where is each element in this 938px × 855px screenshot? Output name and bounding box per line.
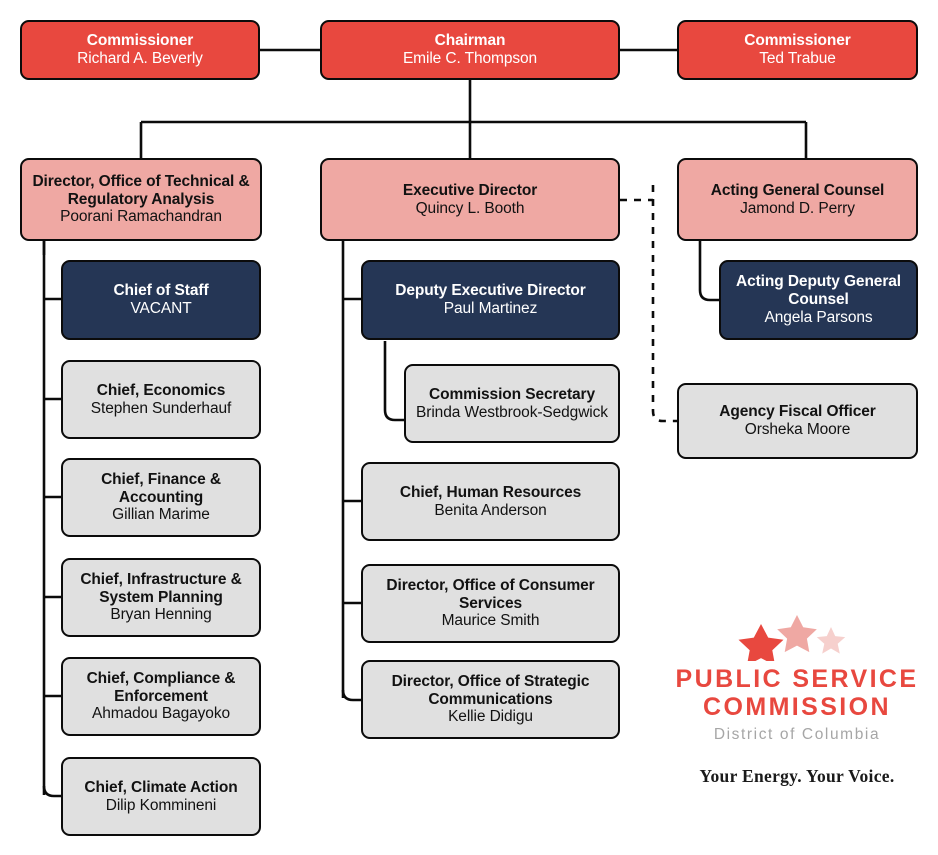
node-title: Commissioner [744, 32, 850, 50]
node-name: Richard A. Beverly [77, 50, 203, 68]
logo-stars [727, 615, 867, 659]
node-title: Agency Fiscal Officer [719, 403, 875, 421]
node-deputy-executive-director[interactable]: Deputy Executive Director Paul Martinez [361, 260, 620, 340]
node-chief-compliance-enforcement[interactable]: Chief, Compliance & Enforcement Ahmadou … [61, 657, 261, 736]
node-executive-director[interactable]: Executive Director Quincy L. Booth [320, 158, 620, 241]
node-chief-economics[interactable]: Chief, Economics Stephen Sunderhauf [61, 360, 261, 439]
node-director-office-consumer-services[interactable]: Director, Office of Consumer Services Ma… [361, 564, 620, 643]
line-dotted-exec-to-fiscal [620, 185, 677, 421]
node-name: Paul Martinez [444, 300, 537, 318]
node-director-office-strategic-communications[interactable]: Director, Office of Strategic Communicat… [361, 660, 620, 739]
node-agency-fiscal-officer[interactable]: Agency Fiscal Officer Orsheka Moore [677, 383, 918, 459]
node-name: Brinda Westbrook-Sedgwick [416, 404, 608, 422]
node-title: Chief of Staff [113, 282, 208, 300]
node-name: Jamond D. Perry [740, 200, 855, 218]
node-name: Maurice Smith [442, 612, 540, 630]
node-title: Chief, Compliance & Enforcement [69, 670, 253, 706]
node-chief-finance-accounting[interactable]: Chief, Finance & Accounting Gillian Mari… [61, 458, 261, 537]
node-commission-secretary[interactable]: Commission Secretary Brinda Westbrook-Se… [404, 364, 620, 443]
node-name: VACANT [130, 300, 191, 318]
node-title: Director, Office of Strategic Communicat… [369, 673, 612, 709]
node-chief-climate-action[interactable]: Chief, Climate Action Dilip Kommineni [61, 757, 261, 836]
node-name: Ahmadou Bagayoko [92, 705, 230, 723]
star-bold-icon [739, 624, 784, 661]
node-acting-general-counsel[interactable]: Acting General Counsel Jamond D. Perry [677, 158, 918, 241]
logo-subtitle: District of Columbia [668, 726, 926, 744]
node-title: Executive Director [403, 182, 537, 200]
line-deputy-to-commission-secretary [385, 341, 404, 420]
line-mid-stub-director-strategic [343, 690, 361, 700]
node-name: Orsheka Moore [745, 421, 851, 439]
node-name: Quincy L. Booth [416, 200, 525, 218]
node-title: Director, Office of Technical & Regulato… [28, 173, 254, 209]
node-title: Commission Secretary [429, 386, 595, 404]
org-chart: Commissioner Richard A. Beverly Chairman… [0, 0, 938, 855]
node-name: Gillian Marime [112, 506, 210, 524]
node-name: Kellie Didigu [448, 708, 533, 726]
node-name: Ted Trabue [759, 50, 836, 68]
node-title: Acting Deputy General Counsel [727, 273, 910, 309]
node-title: Chief, Economics [97, 382, 225, 400]
node-name: Bryan Henning [110, 606, 211, 624]
node-title: Chief, Finance & Accounting [69, 471, 253, 507]
node-chairman[interactable]: Chairman Emile C. Thompson [320, 20, 620, 80]
node-acting-deputy-general-counsel[interactable]: Acting Deputy General Counsel Angela Par… [719, 260, 918, 340]
node-title: Deputy Executive Director [395, 282, 585, 300]
node-chief-human-resources[interactable]: Chief, Human Resources Benita Anderson [361, 462, 620, 541]
node-name: Poorani Ramachandran [60, 208, 222, 226]
logo-tagline: Your Energy. Your Voice. [668, 766, 926, 787]
psc-logo: PUBLIC SERVICE COMMISSION District of Co… [668, 615, 926, 787]
node-title: Chief, Human Resources [400, 484, 581, 502]
node-name: Dilip Kommineni [106, 797, 216, 815]
node-chief-infrastructure-system-planning[interactable]: Chief, Infrastructure & System Planning … [61, 558, 261, 637]
logo-brand-line1: PUBLIC SERVICE [668, 665, 926, 693]
logo-brand-line2: COMMISSION [668, 693, 926, 721]
line-counsel-to-deputy-counsel [700, 241, 719, 300]
stars-group-icon [727, 615, 867, 661]
node-commissioner-right[interactable]: Commissioner Ted Trabue [677, 20, 918, 80]
node-director-office-technical-regulatory-analysis[interactable]: Director, Office of Technical & Regulato… [20, 158, 262, 241]
node-commissioner-left[interactable]: Commissioner Richard A. Beverly [20, 20, 260, 80]
node-chief-of-staff[interactable]: Chief of Staff VACANT [61, 260, 261, 340]
node-name: Benita Anderson [434, 502, 546, 520]
node-name: Emile C. Thompson [403, 50, 537, 68]
node-title: Chief, Climate Action [84, 779, 237, 797]
node-name: Angela Parsons [764, 309, 872, 327]
node-title: Chairman [435, 32, 506, 50]
line-left-stub-chief-climate [44, 786, 61, 796]
star-medium-icon [777, 615, 817, 652]
node-title: Chief, Infrastructure & System Planning [69, 571, 253, 607]
node-title: Commissioner [87, 32, 193, 50]
node-title: Director, Office of Consumer Services [369, 577, 612, 613]
star-light-icon [817, 627, 845, 654]
node-name: Stephen Sunderhauf [91, 400, 231, 418]
node-title: Acting General Counsel [711, 182, 885, 200]
